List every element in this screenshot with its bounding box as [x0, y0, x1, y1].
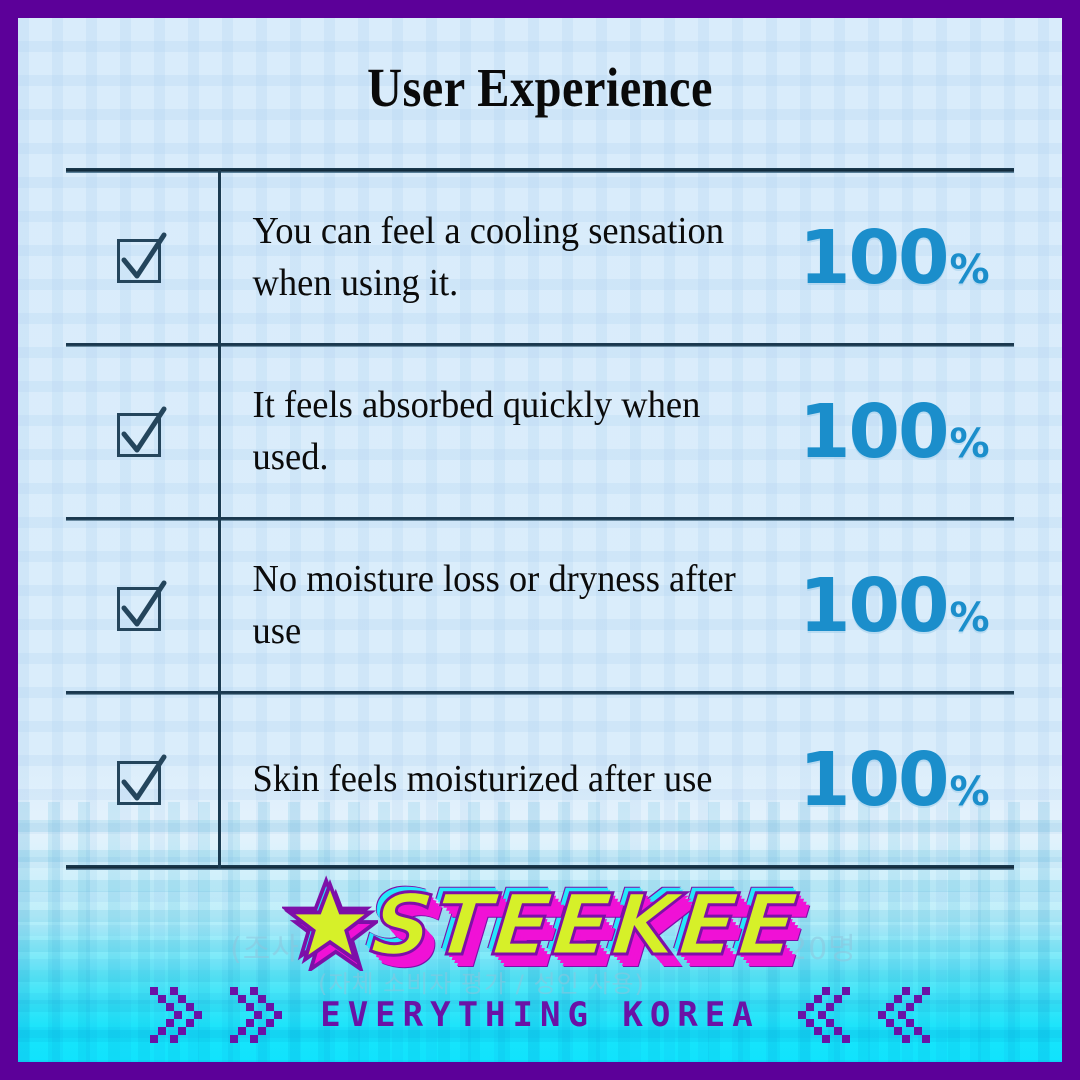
table-cell-check	[66, 230, 218, 286]
value-unit: %	[949, 247, 989, 293]
table-row: No moisture loss or dryness after use 10…	[66, 521, 1014, 691]
brand-tagline: EVERYTHING KOREA	[320, 995, 760, 1035]
poster-canvas: User Experience You can feel a cooling s…	[0, 0, 1080, 1080]
table-row: Skin feels moisturized after use 100 %	[66, 695, 1014, 865]
value-unit: %	[949, 421, 989, 467]
chevron-left-pixel-icon	[790, 987, 934, 1043]
checkbox-checked-icon	[114, 752, 170, 808]
table-cell-statement: It feels absorbed quickly when used.	[218, 380, 776, 483]
table-cell-value: 100 %	[799, 389, 1014, 475]
value-number: 100	[799, 389, 947, 475]
table-cell-statement: No moisture loss or dryness after use	[218, 554, 776, 657]
value-number: 100	[799, 215, 947, 301]
checkbox-checked-icon	[114, 404, 170, 460]
table-cell-check	[66, 578, 218, 634]
table-cell-statement: Skin feels moisturized after use	[218, 754, 776, 806]
results-table: You can feel a cooling sensation when us…	[66, 168, 1014, 870]
value-number: 100	[799, 737, 947, 823]
star-icon	[282, 875, 378, 976]
value-unit: %	[949, 769, 989, 815]
table-row: It feels absorbed quickly when used. 100…	[66, 347, 1014, 517]
brand-logo: STEEKEE	[18, 870, 1062, 980]
brand-wordmark: STEEKEE	[367, 883, 802, 967]
table-cell-value: 100 %	[799, 563, 1014, 649]
checkbox-checked-icon	[114, 230, 170, 286]
value-number: 100	[799, 563, 947, 649]
checkbox-checked-icon	[114, 578, 170, 634]
table-cell-statement: You can feel a cooling sensation when us…	[218, 206, 776, 309]
chevron-right-pixel-icon	[146, 987, 290, 1043]
content-panel: User Experience You can feel a cooling s…	[18, 18, 1062, 1062]
table-cell-value: 100 %	[799, 215, 1014, 301]
value-unit: %	[949, 595, 989, 641]
page-title: User Experience	[81, 56, 1000, 119]
table-cell-value: 100 %	[799, 737, 1014, 823]
table-row: You can feel a cooling sensation when us…	[66, 173, 1014, 343]
brand-tagline-row: EVERYTHING KOREA	[18, 984, 1062, 1046]
table-cell-check	[66, 752, 218, 808]
table-cell-check	[66, 404, 218, 460]
